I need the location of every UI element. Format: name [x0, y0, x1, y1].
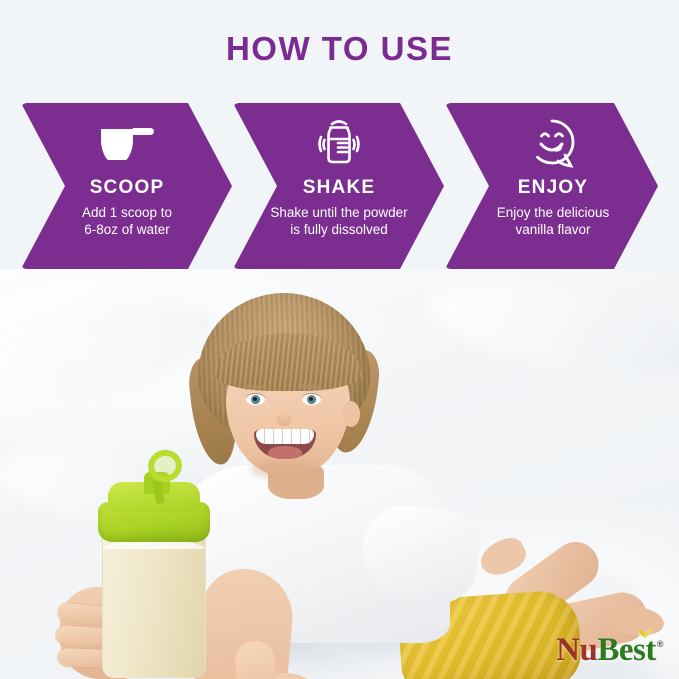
step-description: Add 1 scoop to 6-8oz of water	[82, 204, 172, 239]
logo-nu: Nu	[556, 634, 597, 667]
step-card-shake: SHAKE Shake until the powder is fully di…	[233, 103, 444, 269]
step-description: Enjoy the delicious vanilla flavor	[497, 204, 610, 239]
shaker-bottle	[98, 464, 214, 679]
step-title: ENJOY	[518, 177, 588, 199]
chin-shadow	[250, 461, 320, 479]
logo-best: Best	[597, 634, 656, 667]
page-title: HOW TO USE	[0, 30, 679, 68]
registered-mark: ®	[657, 640, 663, 649]
vanilla-shake-liquid	[103, 540, 205, 678]
step-title: SCOOP	[90, 177, 165, 199]
how-to-use-infographic: HOW TO USE SCOOP Add 1 scoop to 6-8oz of…	[0, 0, 679, 679]
ear	[342, 401, 360, 427]
smiley-speech-bubble-icon	[525, 115, 581, 171]
measuring-scoop-icon	[98, 115, 156, 171]
nose	[276, 412, 292, 426]
step-description: Shake until the powder is fully dissolve…	[270, 204, 407, 239]
nubest-logo: Nu Best ®	[556, 634, 663, 667]
step-title: SHAKE	[303, 177, 376, 199]
product-lifestyle-photo	[0, 269, 679, 679]
step-card-scoop: SCOOP Add 1 scoop to 6-8oz of water	[21, 103, 232, 269]
leaf-icon	[638, 625, 652, 638]
shaker-bottle-icon	[309, 115, 369, 171]
step-card-enjoy: ENJOY Enjoy the delicious vanilla flavor	[445, 103, 658, 269]
eye	[246, 394, 265, 405]
eye	[302, 394, 321, 405]
steps-band: SCOOP Add 1 scoop to 6-8oz of water	[0, 103, 679, 269]
